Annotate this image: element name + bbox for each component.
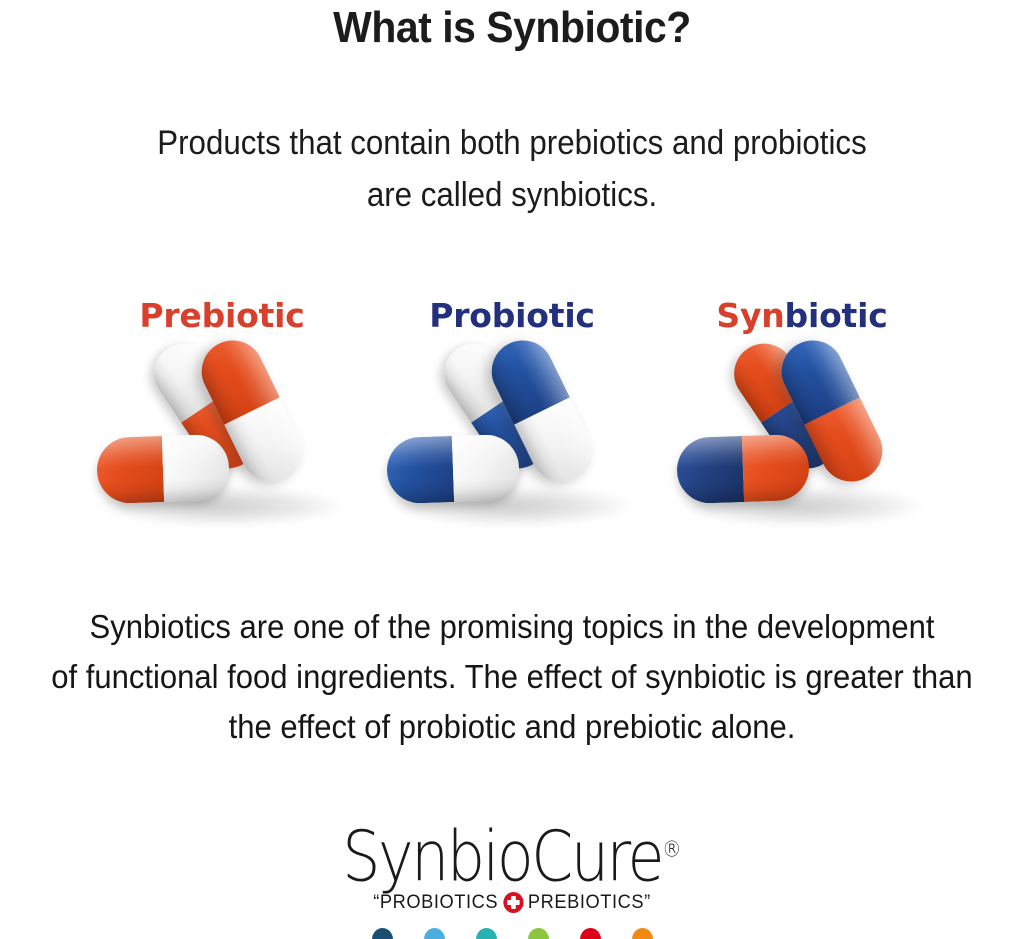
body-line-2: of functional food ingredients. The effe… — [31, 652, 994, 702]
logo-tagline: “PROBIOTICS PREBIOTICS” — [20, 892, 1003, 914]
dot-sky-blue — [424, 928, 445, 939]
capsule-left-prebiotic — [96, 434, 230, 505]
group-label-synbiotic-part1: Syn — [716, 296, 784, 335]
dot-green — [528, 928, 549, 939]
group-label-synbiotic: Synbiotic — [657, 296, 947, 336]
dot-red — [580, 928, 601, 939]
capsule-half-navy — [676, 436, 744, 504]
body-line-1: Synbiotics are one of the promising topi… — [31, 602, 994, 652]
dot-navy — [372, 928, 393, 939]
capsule-cluster-synbiotic — [677, 358, 927, 528]
group-synbiotic: Synbiotic — [657, 296, 947, 528]
capsule-left-probiotic — [386, 434, 520, 505]
group-prebiotic: Prebiotic — [77, 296, 367, 528]
page-subtitle: Products that contain both prebiotics an… — [41, 117, 983, 221]
dot-orange — [632, 928, 653, 939]
tagline-left-text: “PROBIOTICS — [373, 892, 498, 914]
group-label-prebiotic: Prebiotic — [77, 296, 367, 336]
group-label-synbiotic-part2: biotic — [785, 296, 888, 335]
subtitle-line-2: are called synbiotics. — [41, 169, 983, 221]
registered-trademark-icon: ® — [662, 835, 681, 862]
capsule-groups: Prebiotic Probiotic — [0, 296, 1024, 536]
infographic-canvas: What is Synbiotic? Products that contain… — [0, 0, 1024, 939]
group-probiotic: Probiotic — [367, 296, 657, 528]
group-label-probiotic: Probiotic — [367, 296, 657, 336]
body-paragraph: Synbiotics are one of the promising topi… — [31, 602, 994, 752]
brand-logo: SynbioCure® “PROBIOTICS PREBIOTICS” — [0, 816, 1024, 939]
logo-wordmark-text: SynbioCure — [342, 816, 662, 898]
capsule-left-synbiotic — [676, 434, 810, 505]
dot-teal — [476, 928, 497, 939]
subtitle-line-1: Products that contain both prebiotics an… — [41, 117, 983, 169]
body-line-3: the effect of probiotic and prebiotic al… — [31, 702, 994, 752]
page-title: What is Synbiotic? — [36, 2, 988, 54]
capsule-half-orange — [96, 436, 164, 504]
brand-color-dots — [0, 928, 1024, 939]
tagline-right-text: PREBIOTICS” — [528, 892, 651, 914]
logo-wordmark: SynbioCure® — [342, 812, 681, 894]
capsule-cluster-prebiotic — [97, 358, 347, 528]
red-cross-icon — [503, 892, 523, 913]
capsule-cluster-probiotic — [387, 358, 637, 528]
capsule-half-blue — [386, 436, 454, 504]
